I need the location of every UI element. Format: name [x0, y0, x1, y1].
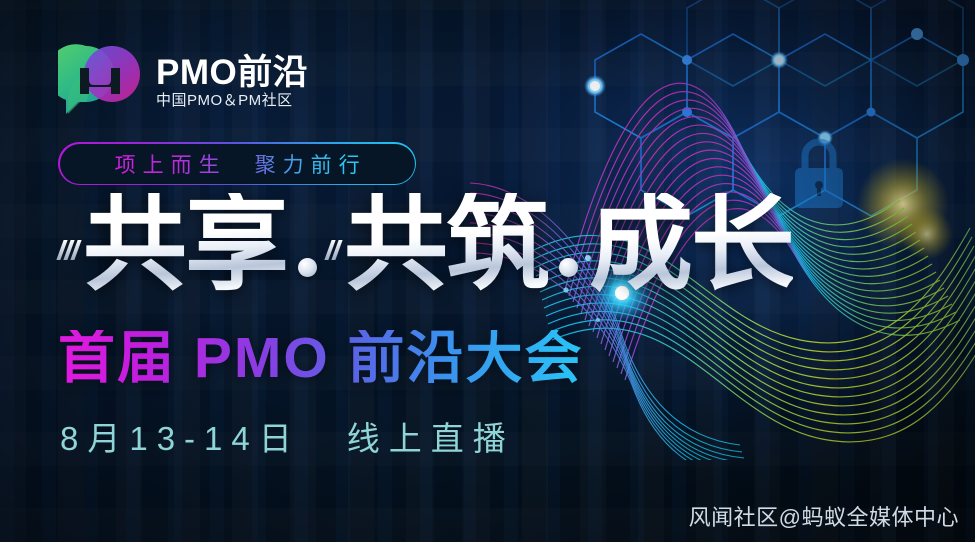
tagline-text: 项上而生 聚力前行 [108, 149, 367, 179]
headline: 共享 共筑 成长 [60, 186, 793, 304]
brand-logo[interactable]: PMO前沿 中国PMO＆PM社区 [58, 44, 308, 118]
headline-separator-dot-1 [298, 258, 317, 277]
headline-group-2: 共筑 [344, 193, 548, 297]
event-date: 8月13-14日 [60, 412, 301, 460]
speed-mark-icon [328, 240, 339, 260]
conference-promo-banner: PMO前沿 中国PMO＆PM社区 项上而生 聚力前行 共享 共筑 成长 首届 P… [0, 0, 975, 542]
event-mode: 线上直播 [347, 412, 515, 460]
headline-separator-dot-2 [559, 258, 578, 277]
headline-group-1: 共享 [83, 193, 287, 297]
logo-subtitle: 中国PMO＆PM社区 [156, 93, 308, 108]
watermark: 风闻社区@蚂蚁全媒体中心 [689, 500, 959, 532]
pmo-double-bubble-m-logo-icon [58, 44, 142, 118]
event-dateline: 8月13-14日 线上直播 [60, 412, 515, 460]
logo-title: PMO前沿 [156, 55, 308, 90]
event-subtitle: 首届 PMO 前沿大会 [58, 330, 584, 387]
headline-group-3: 成长 [589, 193, 793, 297]
tagline-pill: 项上而生 聚力前行 [58, 142, 416, 185]
speed-mark-icon [60, 240, 78, 260]
